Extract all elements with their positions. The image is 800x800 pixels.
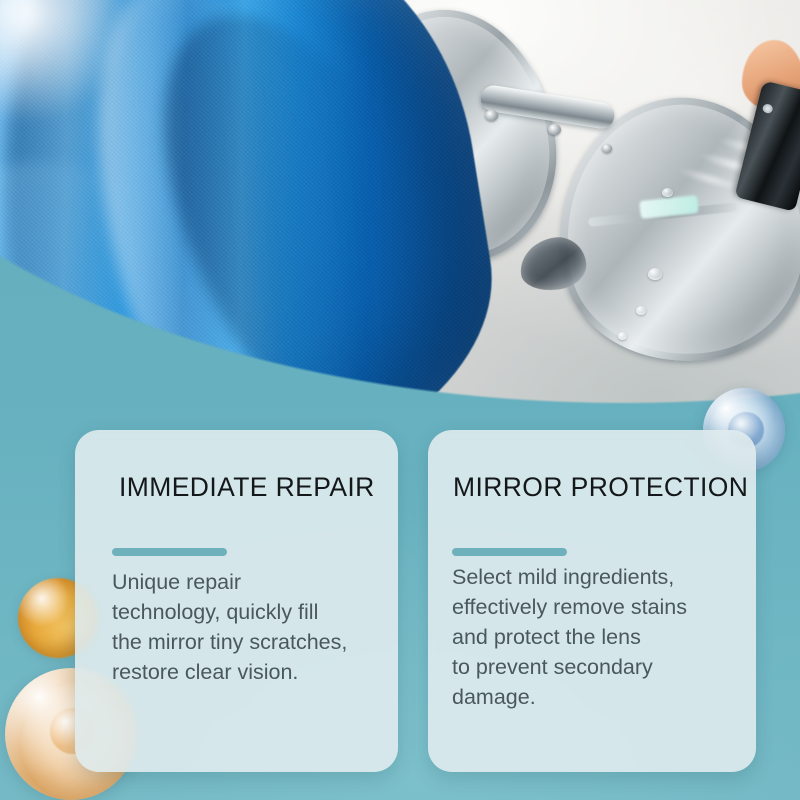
accent-rule <box>112 548 227 556</box>
feature-card-title: MIRROR PROTECTION <box>452 472 732 503</box>
feature-card-title: IMMEDIATE REPAIR <box>99 472 374 503</box>
feature-card-body: Select mild ingredients, effectively rem… <box>452 562 732 712</box>
bridge-rivet <box>485 110 498 121</box>
banner-stage: IMMEDIATE REPAIR Unique repair technolog… <box>0 0 800 800</box>
water-droplet <box>636 306 646 315</box>
hero-photo <box>0 0 800 430</box>
hero-photo-canvas <box>0 0 800 430</box>
bridge-rivet <box>602 144 612 153</box>
bridge-rivet <box>548 124 561 135</box>
cloth-highlight <box>0 0 180 190</box>
feature-card-mirror-protection: MIRROR PROTECTION Select mild ingredient… <box>428 430 756 772</box>
feature-card-body: Unique repair technology, quickly fill t… <box>112 567 374 687</box>
accent-rule <box>452 548 567 556</box>
water-droplet <box>648 268 662 280</box>
feature-card-immediate-repair: IMMEDIATE REPAIR Unique repair technolog… <box>75 430 398 772</box>
water-droplet <box>618 332 627 340</box>
